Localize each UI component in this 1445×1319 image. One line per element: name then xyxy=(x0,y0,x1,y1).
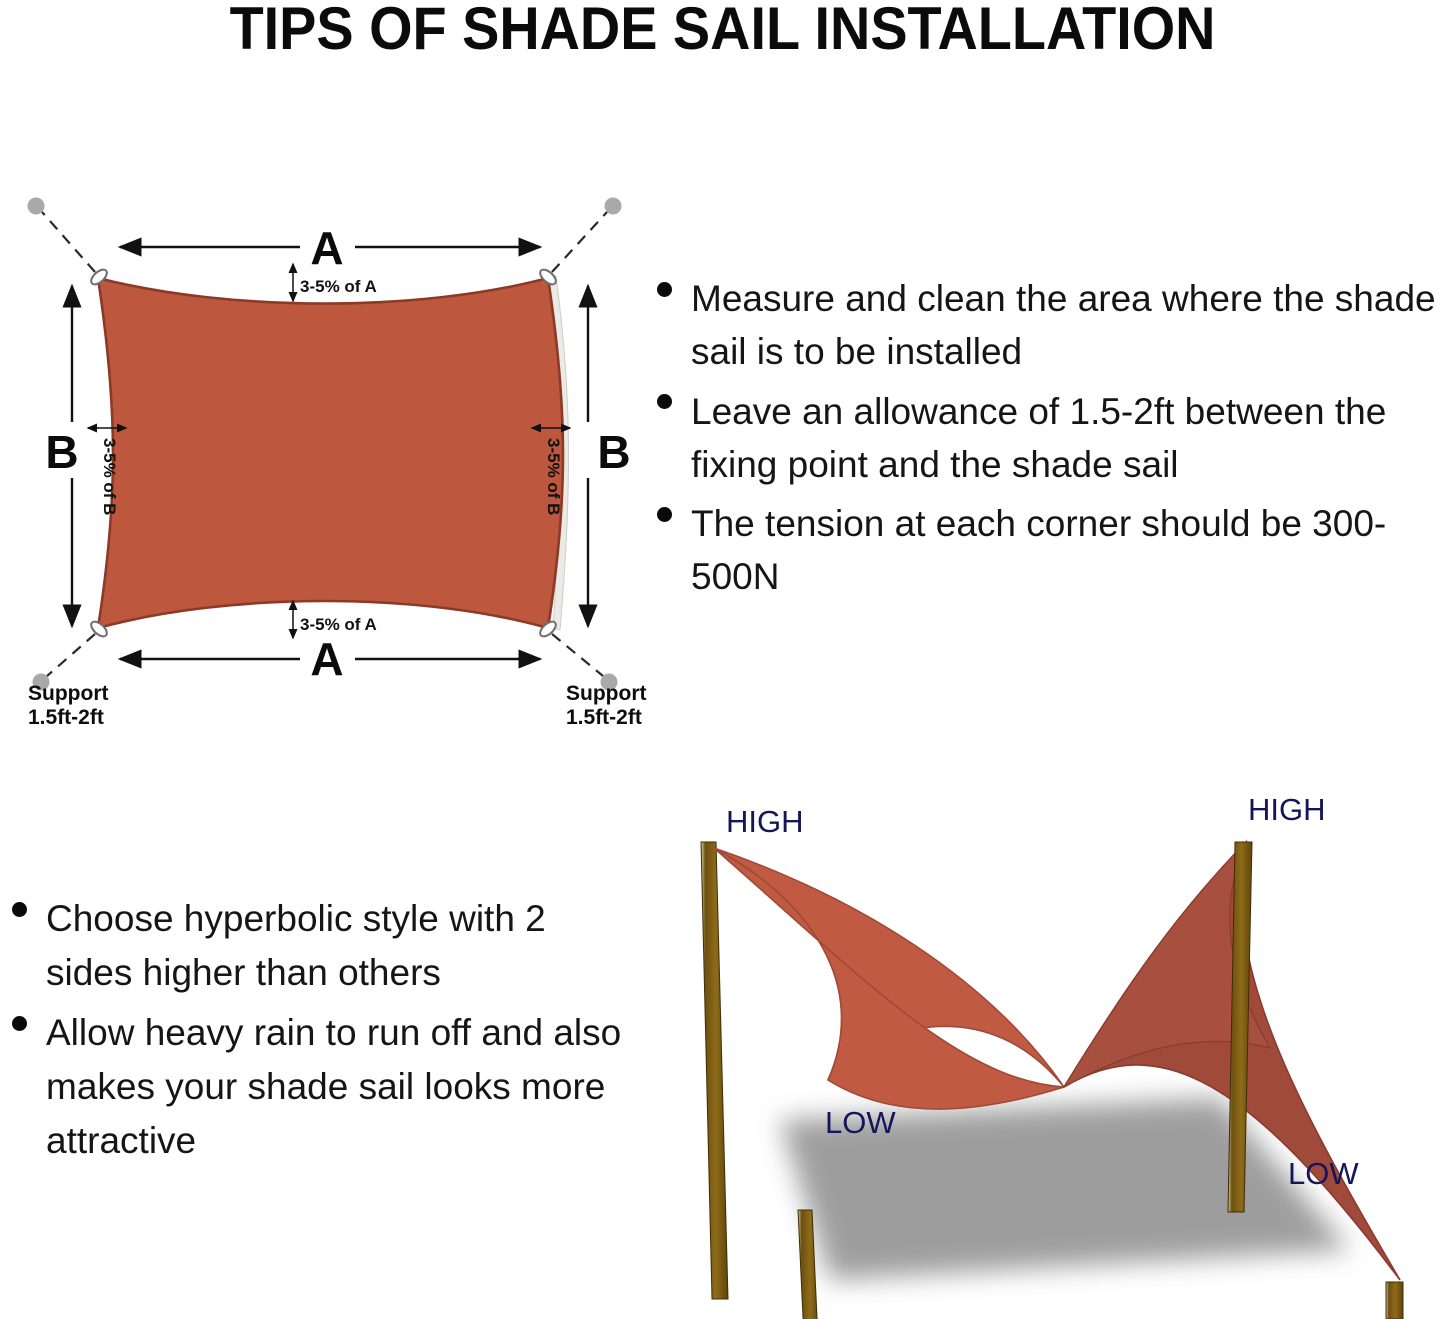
dimension-label-A-bottom: A xyxy=(310,633,343,685)
curve-percent-right: 3-5% of B xyxy=(544,438,563,515)
rect-sail-diagram: Support 1.5ft-2ft Support 1.5ft-2ft Supp… xyxy=(0,160,660,730)
support-value: 1.5ft-2ft xyxy=(566,706,642,729)
bullet-dot-icon xyxy=(12,1016,27,1031)
curve-callout-bottom: 3-5% of A xyxy=(293,601,377,638)
curve-percent-left: 3-5% of B xyxy=(100,438,119,515)
support-value: 1.5ft-2ft xyxy=(14,160,90,163)
support-title: Support xyxy=(566,682,646,705)
label-low-left: LOW xyxy=(825,1105,896,1140)
dimension-width-top: A xyxy=(120,222,540,274)
label-high-right: HIGH xyxy=(1248,792,1326,827)
support-value: 1.5ft-2ft xyxy=(28,706,104,729)
tips-list-left: Choose hyperbolic style with 2 sides hig… xyxy=(0,892,625,1174)
dimension-label-B-left: B xyxy=(45,426,78,478)
dimension-label-B-right: B xyxy=(597,426,630,478)
tips-list-right: Measure and clean the area where the sha… xyxy=(645,272,1445,610)
curve-percent-top: 3-5% of A xyxy=(300,277,377,296)
dimension-label-A-top: A xyxy=(310,222,343,274)
tip-text: Allow heavy rain to run off and also mak… xyxy=(46,1006,625,1168)
list-item: Measure and clean the area where the sha… xyxy=(645,272,1445,379)
bullet-dot-icon xyxy=(657,394,672,409)
page-title: TIPS OF SHADE SAIL INSTALLATION xyxy=(51,0,1395,63)
dimension-height-left: B xyxy=(45,286,78,626)
support-label-bottom-left: Support 1.5ft-2ft xyxy=(28,682,108,729)
tip-text: Leave an allowance of 1.5-2ft between th… xyxy=(691,385,1445,492)
list-item: Leave an allowance of 1.5-2ft between th… xyxy=(645,385,1445,492)
support-value: 1.5ft-2ft xyxy=(520,160,596,163)
tip-text: The tension at each corner should be 300… xyxy=(691,497,1445,604)
list-item: Allow heavy rain to run off and also mak… xyxy=(0,1006,625,1168)
pole-high-left xyxy=(701,842,728,1299)
support-title: Support xyxy=(28,682,108,705)
dimension-height-right: B xyxy=(588,286,631,626)
dimension-width-bottom: A xyxy=(120,633,540,685)
bullet-dot-icon xyxy=(657,507,672,522)
tip-text: Choose hyperbolic style with 2 sides hig… xyxy=(46,892,625,1000)
support-label-top-right: Support 1.5ft-2ft xyxy=(520,160,600,163)
list-item: Choose hyperbolic style with 2 sides hig… xyxy=(0,892,625,1000)
support-label-bottom-right: Support 1.5ft-2ft xyxy=(566,682,646,729)
hyperbolic-sail-diagram: HIGH HIGH LOW LOW xyxy=(660,780,1445,1319)
support-label-top-left: Support 1.5ft-2ft xyxy=(14,160,94,163)
pole-low-right xyxy=(1386,1282,1403,1319)
bullet-dot-icon xyxy=(12,902,27,917)
list-item: The tension at each corner should be 300… xyxy=(645,497,1445,604)
shade-sail-shape xyxy=(98,278,563,628)
curve-percent-bottom: 3-5% of A xyxy=(300,615,377,634)
bullet-dot-icon xyxy=(657,282,672,297)
label-high-left: HIGH xyxy=(726,804,804,839)
tip-text: Measure and clean the area where the sha… xyxy=(691,272,1445,379)
label-low-right: LOW xyxy=(1288,1156,1359,1191)
